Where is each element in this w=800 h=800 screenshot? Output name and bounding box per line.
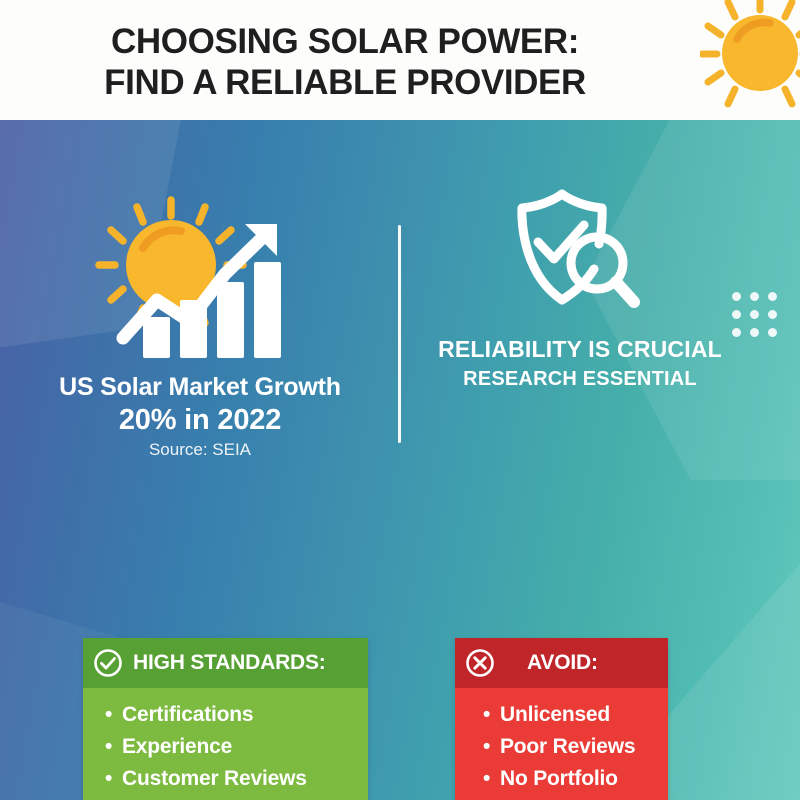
stat-source: Source: SEIA bbox=[30, 440, 370, 460]
card-high-standards-body: Certifications Experience Customer Revie… bbox=[83, 688, 368, 800]
list-item: Experience bbox=[105, 731, 358, 763]
list-item: Poor Reviews bbox=[483, 731, 658, 763]
avoid-list: Unlicensed Poor Reviews No Portfolio bbox=[483, 699, 658, 795]
card-avoid-body: Unlicensed Poor Reviews No Portfolio bbox=[455, 688, 668, 800]
stat-label: US Solar Market Growth bbox=[30, 373, 370, 402]
page-title: CHOOSING SOLAR POWER: FIND A RELIABLE PR… bbox=[0, 22, 690, 103]
card-high-standards: HIGH STANDARDS: Certifications Experienc… bbox=[83, 638, 368, 800]
infographic-canvas: US Solar Market Growth 20% in 2022 Sourc… bbox=[0, 0, 800, 800]
card-high-standards-header: HIGH STANDARDS: bbox=[83, 638, 368, 688]
card-high-standards-title: HIGH STANDARDS: bbox=[133, 651, 326, 675]
high-standards-list: Certifications Experience Customer Revie… bbox=[105, 699, 358, 795]
list-item: Unlicensed bbox=[483, 699, 658, 731]
stat-value: 20% in 2022 bbox=[30, 404, 370, 437]
sun-icon bbox=[700, 0, 800, 108]
x-circle-icon bbox=[465, 648, 495, 678]
list-item: No Portfolio bbox=[483, 763, 658, 795]
vertical-divider bbox=[398, 225, 401, 443]
reliability-subline: RESEARCH ESSENTIAL bbox=[420, 368, 740, 391]
list-item: Customer Reviews bbox=[105, 763, 358, 795]
header-band: CHOOSING SOLAR POWER: FIND A RELIABLE PR… bbox=[0, 0, 800, 120]
shield-check-magnifier-icon bbox=[500, 180, 660, 330]
check-circle-icon bbox=[93, 648, 123, 678]
reliability-headline: RELIABILITY IS CRUCIAL bbox=[420, 336, 740, 363]
solar-growth-chart-icon bbox=[85, 190, 315, 365]
reliability-panel: RELIABILITY IS CRUCIAL RESEARCH ESSENTIA… bbox=[420, 180, 740, 391]
card-avoid-header: AVOID: bbox=[455, 638, 668, 688]
page-title-line2: FIND A RELIABLE PROVIDER bbox=[0, 63, 690, 104]
list-item: Certifications bbox=[105, 699, 358, 731]
main-background: US Solar Market Growth 20% in 2022 Sourc… bbox=[0, 120, 800, 800]
page-title-line1: CHOOSING SOLAR POWER: bbox=[111, 22, 579, 61]
solar-market-stat-panel: US Solar Market Growth 20% in 2022 Sourc… bbox=[30, 190, 370, 460]
card-avoid: AVOID: Unlicensed Poor Reviews No Portfo… bbox=[455, 638, 668, 800]
card-avoid-title: AVOID: bbox=[527, 651, 598, 675]
